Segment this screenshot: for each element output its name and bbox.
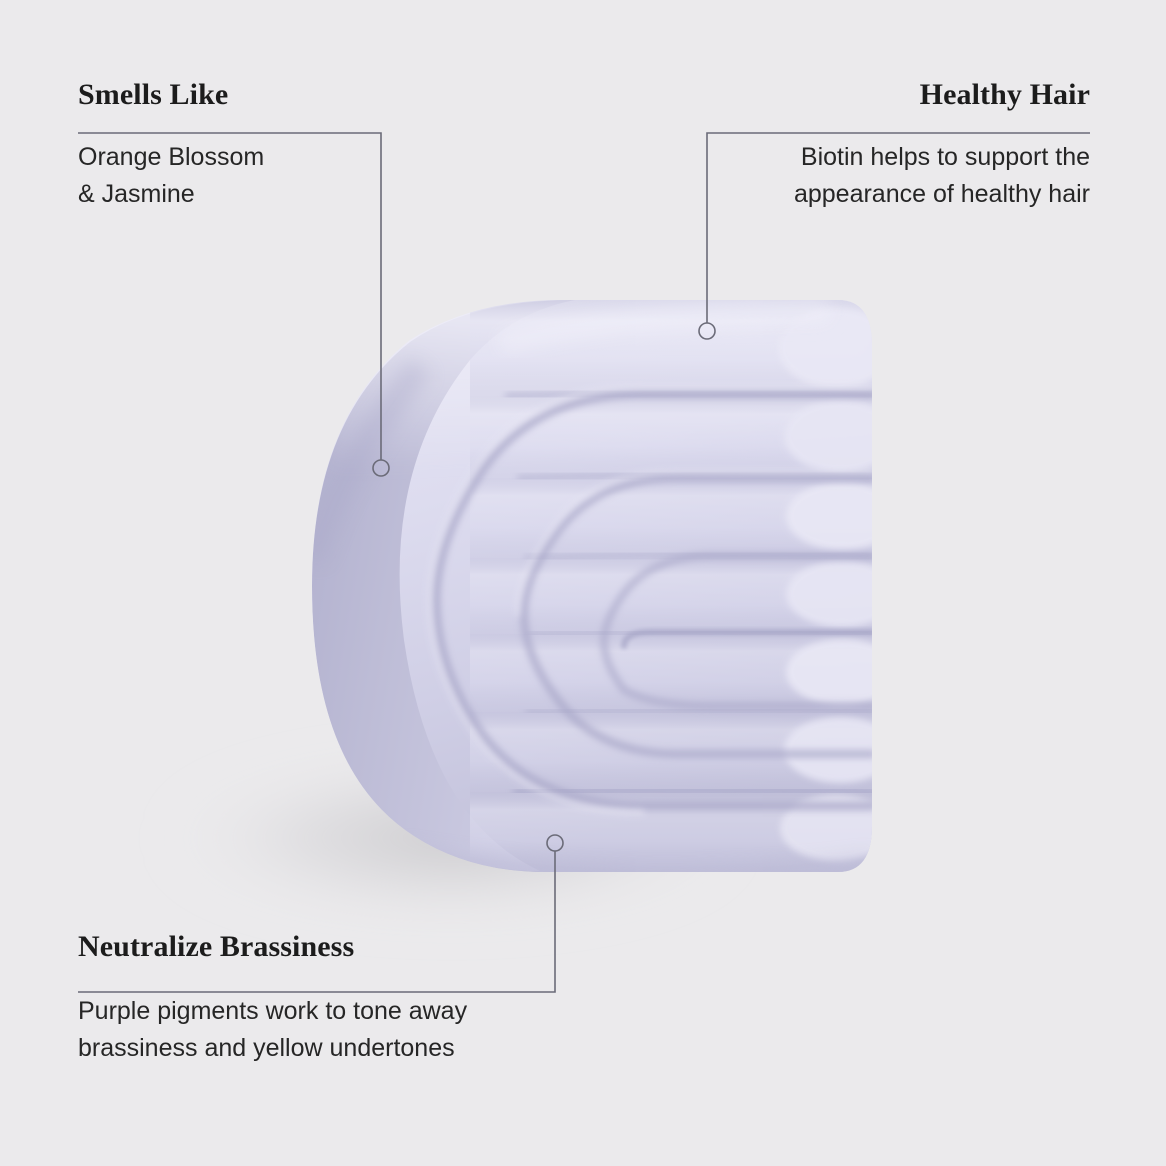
product-infographic: Smells Like Orange Blossom & Jasmine Hea… (0, 0, 1166, 1166)
callout-heading-healthy-hair: Healthy Hair (707, 78, 1090, 111)
product-body (312, 300, 898, 900)
callout-heading-smells-like: Smells Like (78, 78, 398, 111)
callout-body-neutralize-brassiness: Purple pigments work to tone away brassi… (78, 993, 556, 1066)
callout-body-smells-like: Orange Blossom & Jasmine (78, 139, 398, 212)
callout-heading-neutralize-brassiness: Neutralize Brassiness (78, 930, 556, 963)
callout-neutralize-brassiness: Neutralize Brassiness Purple pigments wo… (78, 930, 556, 1066)
callout-smells-like: Smells Like Orange Blossom & Jasmine (78, 78, 398, 212)
callout-healthy-hair: Healthy Hair Biotin helps to support the… (707, 78, 1090, 212)
callout-body-healthy-hair: Biotin helps to support the appearance o… (707, 139, 1090, 212)
